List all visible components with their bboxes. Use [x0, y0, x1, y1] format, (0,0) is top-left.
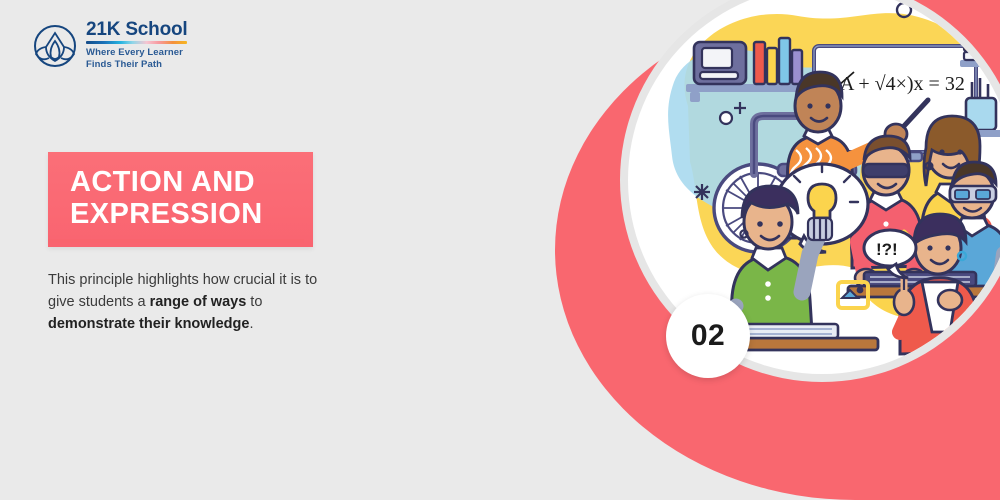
left-content-panel: 21K School Where Every Learner Finds The… [0, 0, 560, 500]
brand-logo[interactable]: 21K School Where Every Learner Finds The… [33, 20, 187, 71]
heading-underline [48, 239, 304, 243]
body-text-bold2: demonstrate their knowledge [48, 316, 249, 332]
page-title-line2: EXPRESSION [70, 198, 263, 230]
brand-tagline: Where Every Learner Finds Their Path [86, 47, 187, 71]
brand-name: 21K School [86, 20, 187, 40]
page-title: ACTION AND EXPRESSION [70, 166, 291, 231]
heading-box: ACTION AND EXPRESSION [48, 152, 313, 247]
brand-tagline-line1: Where Every Learner [86, 47, 187, 59]
brand-tagline-line2: Finds Their Path [86, 59, 187, 71]
whiteboard-equation: A + √4×)x = 32 [840, 73, 965, 95]
speech-bubble-text: !?! [876, 240, 898, 259]
page-title-line1: ACTION AND [70, 166, 255, 198]
brand-gradient-rule [86, 41, 187, 44]
step-number: 02 [691, 319, 725, 353]
step-number-badge: 02 [666, 294, 750, 378]
body-text-part3: . [249, 316, 253, 332]
body-paragraph: This principle highlights how crucial it… [48, 270, 344, 335]
lotus-circle-icon [33, 24, 77, 68]
body-text-bold1: range of ways [150, 294, 247, 310]
body-text-part2: to [246, 294, 262, 310]
